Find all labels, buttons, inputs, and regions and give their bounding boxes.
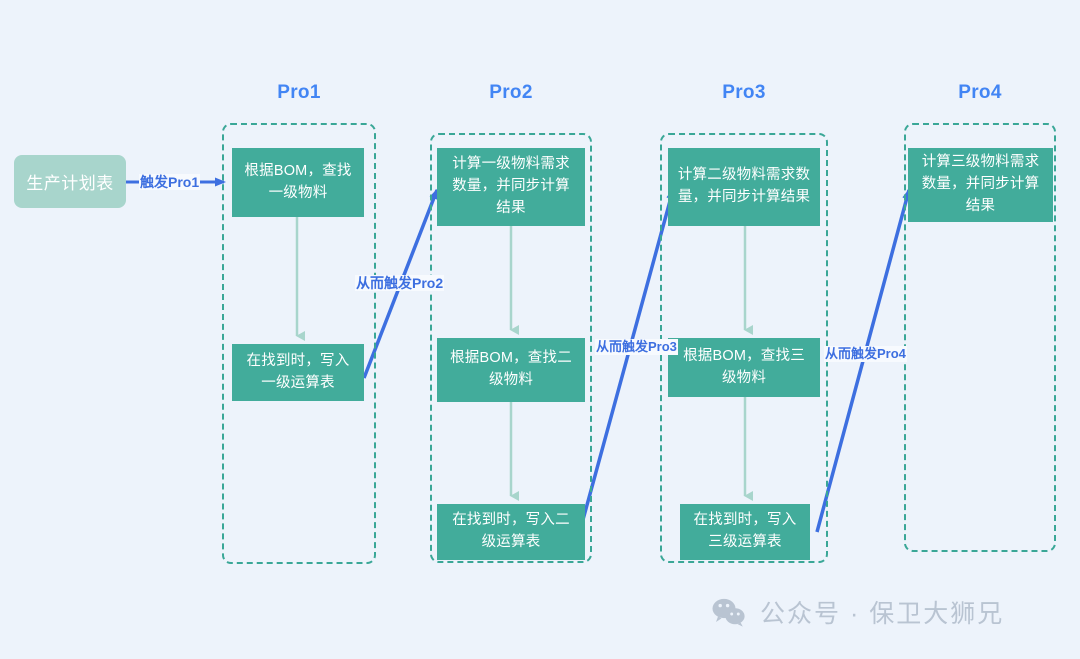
start-node-production-plan[interactable]: 生产计划表: [14, 155, 126, 208]
edge-pro2-to-pro3: [578, 190, 673, 538]
diagram-canvas: Pro1 Pro2 Pro3 Pro4 生产计划表 根据BOM，查找一级物料 在…: [0, 0, 1080, 659]
edge-label-trigger-pro2: 从而触发Pro2: [355, 275, 444, 291]
edge-label-trigger-pro3: 从而触发Pro3: [595, 339, 678, 355]
wechat-icon: [712, 598, 746, 627]
edge-label-trigger-pro4: 从而触发Pro4: [824, 346, 907, 362]
node-pro3-write-level3-table[interactable]: 在找到时，写入三级运算表: [680, 504, 810, 560]
watermark-text: 公众号 · 保卫大狮兄: [760, 594, 1004, 630]
lane-title-pro4: Pro4: [904, 82, 1056, 104]
node-pro3-calc-level2-demand[interactable]: 计算二级物料需求数量，并同步计算结果: [668, 148, 820, 226]
lane-title-pro2: Pro2: [430, 82, 592, 104]
node-pro2-find-level2-material[interactable]: 根据BOM，查找二级物料: [437, 338, 585, 402]
node-pro3-find-level3-material[interactable]: 根据BOM，查找三级物料: [668, 338, 820, 397]
edge-label-trigger-pro1: 触发Pro1: [139, 174, 200, 190]
node-pro1-find-level1-material[interactable]: 根据BOM，查找一级物料: [232, 148, 364, 217]
node-pro1-write-level1-table[interactable]: 在找到时，写入一级运算表: [232, 344, 364, 401]
watermark: 公众号 · 保卫大狮兄: [712, 594, 1004, 630]
lane-title-pro1: Pro1: [222, 82, 376, 104]
node-pro4-calc-level3-demand[interactable]: 计算三级物料需求数量，并同步计算结果: [908, 148, 1053, 222]
node-pro2-calc-level1-demand[interactable]: 计算一级物料需求数量，并同步计算结果: [437, 148, 585, 226]
lane-title-pro3: Pro3: [660, 82, 828, 104]
node-pro2-write-level2-table[interactable]: 在找到时，写入二级运算表: [437, 504, 585, 560]
